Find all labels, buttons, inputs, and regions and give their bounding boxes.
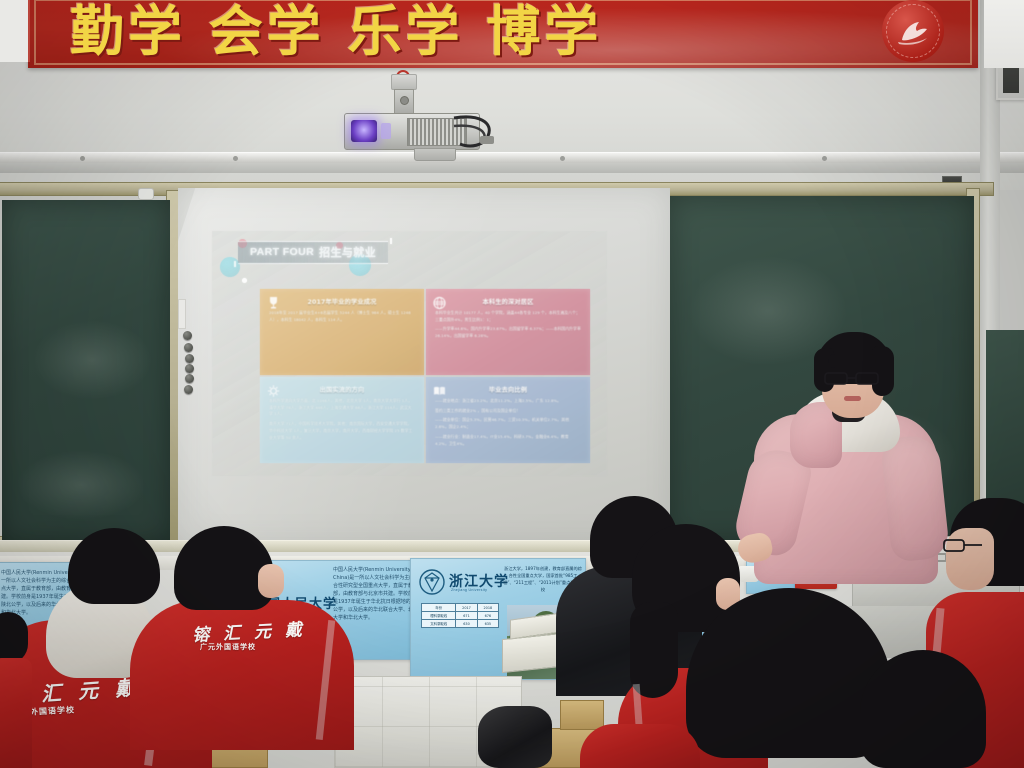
table-col-header: 2018 <box>477 604 498 612</box>
table-row-label: 理科录取线 <box>422 612 456 620</box>
student-back-second: 镕 汇 元 戴 广元外国语学校 <box>126 524 358 744</box>
whiteboard-side-clip <box>178 299 186 329</box>
card-paragraph: ——升学率44.6%，国内升学率23.67%，出国留学率 6.37%；——本科国… <box>435 326 581 339</box>
glasses-icon <box>822 370 884 386</box>
card-title: 出国实流的方向 <box>320 385 365 394</box>
motto-banner: 勤学 会学 乐学 博学 <box>28 0 978 68</box>
slide-title-tick-right <box>390 238 392 244</box>
card-paragraph: ——就业地点：浙江省23.2%，北京11.2%，上海2.5%，广东 12.8%。 <box>435 398 581 405</box>
projected-slide: PART FOUR 招生与就业 2017年毕业的学业成况 2018年至 2017… <box>212 231 607 476</box>
slide-card-domestic-institutions: 出国实流的方向 本科升学流向大学方面，北 1046人，其他，北京大学 1人，南京… <box>260 377 424 463</box>
student-edge-left <box>0 612 34 768</box>
zhejiang-university-logo-icon <box>419 569 445 595</box>
card-title: 毕业去向比例 <box>489 385 527 394</box>
card-title: 本科生的深对居区 <box>482 297 533 306</box>
slide-card-undergrad-destination: 本科生的深对居区 本科毕业生共计 10177 人，40 个学院，涵盖44各专业 … <box>426 289 590 375</box>
slide-deco-dot-white <box>242 278 247 283</box>
card-paragraph: 签约三类工作的就业2% ，国有公司及国企单位！ <box>435 408 581 415</box>
gear-icon <box>267 384 280 398</box>
slide-card-graduate-status: 2017年毕业的学业成况 2018年至 2017 届毕业生4+6名届学生 524… <box>260 289 424 375</box>
slide-cards-grid: 2017年毕业的学业成况 2018年至 2017 届毕业生4+6名届学生 524… <box>260 289 590 463</box>
card-paragraph: ——就业单位：国企5.3%，民营46.7%，三资10.3%，机关单位2.7%，其… <box>435 417 581 430</box>
ceiling-rail-lower <box>0 163 1024 173</box>
trophy-icon <box>267 296 280 310</box>
slide-title-tick-left <box>234 261 236 267</box>
projector-lens <box>351 120 377 142</box>
table-cell: 635 <box>477 620 498 628</box>
table-cell: 671 <box>456 612 477 620</box>
slide-title: PART FOUR 招生与就业 <box>238 241 388 264</box>
classroom-scene: 勤学 会学 乐学 博学 <box>0 0 1024 768</box>
slide-title-cn: 招生与就业 <box>319 244 376 260</box>
poster-university-name-en: Zhejiang University <box>451 588 487 592</box>
card-paragraph: 本科毕业生共计 10177 人，40 个学院，涵盖44各专业 129 个，本科生… <box>435 310 581 323</box>
student-hair <box>860 650 986 768</box>
card-paragraph: 南开大学 71人，中国科学技术大学院，其他：南京国际大学，西安交通大学学院，华中… <box>269 421 415 441</box>
card-paragraph: 本科升学流向大学方面，北 1046人，其他，北京大学 1人，南京大学大学行 1人… <box>269 398 415 418</box>
table-cell: 630 <box>456 620 477 628</box>
projector-base-plate <box>414 148 456 161</box>
projector-focus-ring <box>381 123 391 139</box>
card-header: 本科生的深对居区 <box>435 297 581 306</box>
presenter-bangs <box>828 354 876 368</box>
presenter-mouth <box>844 396 861 401</box>
card-body: 2018年至 2017 届毕业生4+6名届学生 5244 人（博士生 984 人… <box>269 310 415 323</box>
card-body: ——就业地点：浙江省23.2%，北京11.2%，上海2.5%，广东 12.8%。… <box>435 398 581 447</box>
black-bag <box>478 706 552 768</box>
banner-left-wall-strip <box>0 0 30 62</box>
whiteboard-magnets <box>183 331 197 391</box>
table-row-label: 文科录取线 <box>422 620 456 628</box>
globe-icon <box>433 296 446 310</box>
student-hair <box>174 526 274 610</box>
student-jacket <box>0 658 32 768</box>
banner-text: 勤学 会学 乐学 博学 <box>70 0 602 62</box>
projector-mount-arm <box>394 89 414 115</box>
projector-cables <box>452 112 496 154</box>
card-header: 2017年毕业的学业成况 <box>269 297 415 306</box>
table-col-header: 2017 <box>456 604 477 612</box>
card-header: 毕业去向比例 <box>435 385 581 394</box>
swan-emblem <box>882 0 944 62</box>
table-row: 理科录取线 671 676 <box>422 612 499 620</box>
student-uniform-logo-sub: 广元外国语学校 <box>200 642 256 652</box>
card-body: 本科毕业生共计 10177 人，40 个学院，涵盖44各专业 129 个，本科生… <box>435 310 581 340</box>
slide-card-employment-ratio: 毕业去向比例 ——就业地点：浙江省23.2%，北京11.2%，上海2.5%，广东… <box>426 377 590 463</box>
chalkboard-left <box>2 200 170 542</box>
swan-icon <box>894 16 932 46</box>
student-ear <box>258 564 284 598</box>
student-front-right <box>860 650 990 768</box>
card-header: 出国实流的方向 <box>269 385 415 394</box>
table-cell: 676 <box>477 612 498 620</box>
table-row: 文科录取线 630 635 <box>422 620 499 628</box>
slide-deco-circle-large-left <box>220 257 240 277</box>
student-shoulder-red <box>580 724 700 768</box>
projector-mount-bolt <box>400 96 409 105</box>
card-body: 本科升学流向大学方面，北 1046人，其他，北京大学 1人，南京大学大学行 1人… <box>269 398 415 441</box>
book-icon <box>433 384 446 398</box>
card-paragraph: 2018年至 2017 届毕业生4+6名届学生 5244 人（博士生 984 人… <box>269 310 415 323</box>
poster-score-table: 年份 2017 2018 理科录取线 671 676 文科录取线 630 635 <box>421 603 499 628</box>
banner-right-wall-strip <box>984 0 1024 68</box>
card-title: 2017年毕业的学业成况 <box>307 297 376 306</box>
student-jacket <box>580 724 700 768</box>
table-header-row: 年份 2017 2018 <box>422 604 499 612</box>
slide-title-bar: PART FOUR 招生与就业 <box>238 243 388 262</box>
student-hair <box>0 612 28 664</box>
slide-title-en: PART FOUR <box>250 246 314 258</box>
glasses-icon <box>942 536 986 556</box>
projector-mount-plate <box>391 74 417 90</box>
card-paragraph: ——就业行业：制造业17.4%，IT业15.4%，科研3.7%，金融业6.4%，… <box>435 434 581 447</box>
table-corner-cell: 年份 <box>422 604 456 612</box>
board-clip <box>138 188 154 200</box>
ceiling-rail-upper <box>0 152 1024 163</box>
